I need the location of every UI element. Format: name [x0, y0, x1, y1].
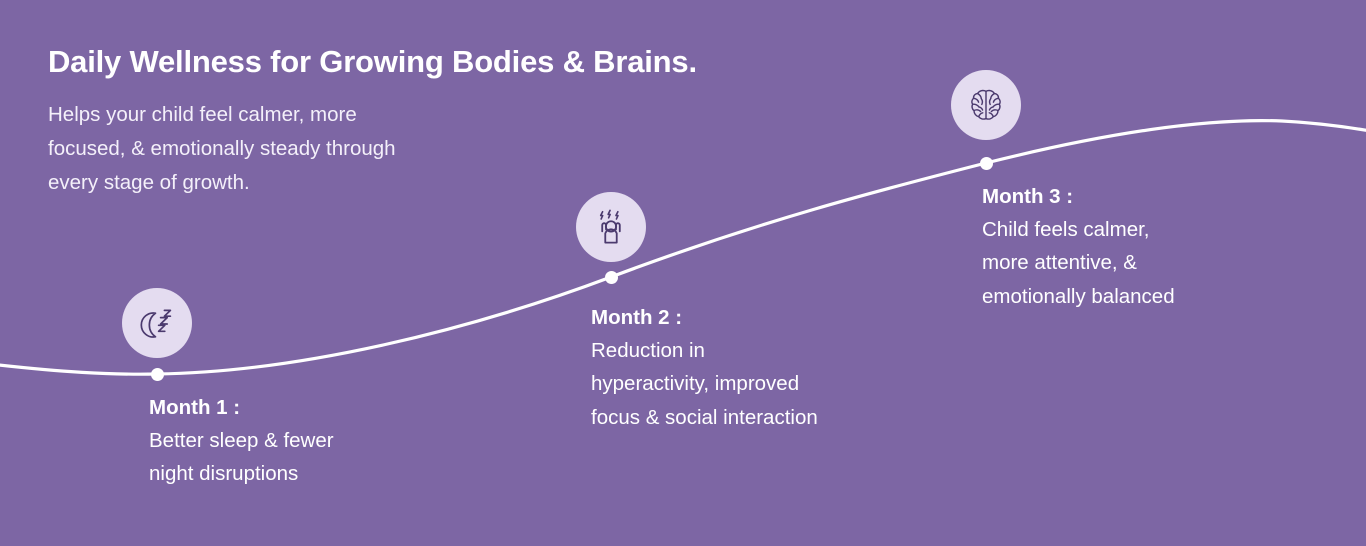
subtitle-line: every stage of growth.: [48, 171, 250, 194]
headline-block: Daily Wellness for Growing Bodies & Brai…: [48, 44, 808, 199]
milestone-body-line: Reduction in: [591, 334, 818, 367]
milestone-heading: Month 3 :: [982, 180, 1175, 213]
milestone-body-line: focus & social interaction: [591, 401, 818, 434]
milestone-body: Better sleep & fewer night disruptions: [149, 424, 334, 490]
milestone-body: Reduction in hyperactivity, improved foc…: [591, 334, 818, 434]
page-title: Daily Wellness for Growing Bodies & Brai…: [48, 44, 808, 80]
page-subtitle: Helps your child feel calmer, more focus…: [48, 98, 518, 199]
milestone-heading: Month 1 :: [149, 391, 334, 424]
milestone-heading: Month 2 :: [591, 301, 818, 334]
subtitle-line: Helps your child feel calmer, more: [48, 103, 357, 126]
milestone-text-block: Month 3 : Child feels calmer, more atten…: [982, 180, 1175, 313]
milestone-dot: [980, 157, 993, 170]
milestone-text-block: Month 2 : Reduction in hyperactivity, im…: [591, 301, 818, 434]
milestone-body-line: more attentive, &: [982, 246, 1175, 279]
milestone-dot: [605, 271, 618, 284]
milestone-body-line: Child feels calmer,: [982, 213, 1175, 246]
wellness-timeline-banner: Daily Wellness for Growing Bodies & Brai…: [0, 0, 1366, 546]
milestone-body-line: Better sleep & fewer: [149, 424, 334, 457]
subtitle-line: focused, & emotionally steady through: [48, 137, 396, 160]
milestone-body-line: emotionally balanced: [982, 280, 1175, 313]
hyperactive-child-icon: [576, 192, 646, 262]
milestone-body-line: hyperactivity, improved: [591, 367, 818, 400]
sleeping-moon-icon: [122, 288, 192, 358]
brain-icon: [951, 70, 1021, 140]
milestone-dot: [151, 368, 164, 381]
milestone-text-block: Month 1 : Better sleep & fewer night dis…: [149, 391, 334, 491]
milestone-body-line: night disruptions: [149, 457, 334, 490]
milestone-body: Child feels calmer, more attentive, & em…: [982, 213, 1175, 313]
